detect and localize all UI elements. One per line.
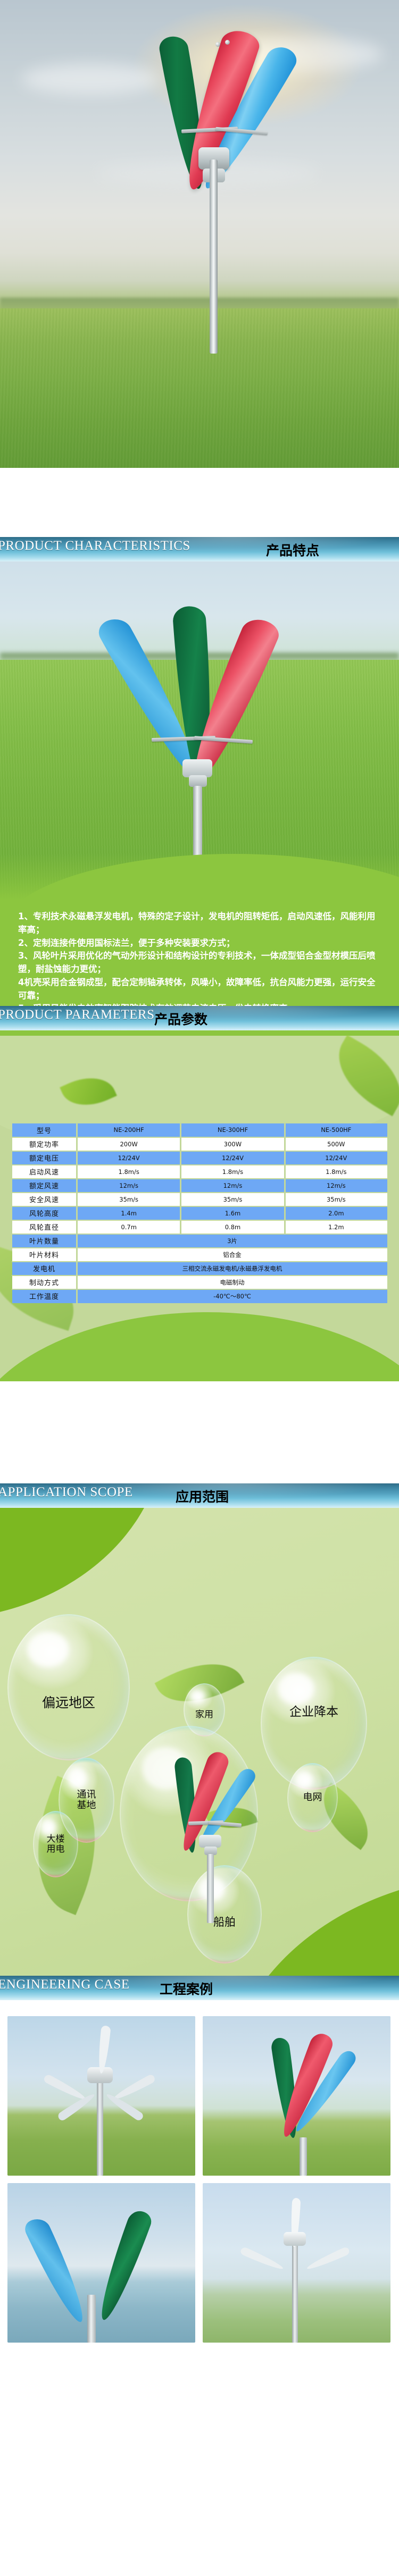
spec-row-value: 1.4m: [77, 1206, 181, 1220]
case1-blade: [43, 2074, 87, 2103]
spec-row-value: 300W: [181, 1137, 285, 1151]
spec-row-value: 12m/s: [285, 1179, 387, 1193]
spec-row-value: 12/24V: [181, 1151, 285, 1165]
application-turbine-illustration: [169, 1741, 249, 1917]
spec-row-label: 额定电压: [12, 1151, 77, 1165]
turbine-photo-illustration: [114, 604, 290, 870]
photo-hub: [182, 759, 212, 777]
case1-blade: [96, 2025, 111, 2074]
spec-row-label: 风轮直径: [12, 1220, 77, 1234]
spec-row-value: 0.7m: [77, 1220, 181, 1234]
case3-mast: [87, 2295, 96, 2343]
photo-hub-base: [189, 775, 207, 787]
specification-table-body: 型号NE-200HFNE-300HFNE-500HF额定功率200W300W50…: [12, 1123, 387, 1303]
case-photo-blue-blade-turbine[interactable]: [7, 2183, 195, 2343]
banner-english-title: APPLICATION SCOPE: [0, 1485, 133, 1500]
spec-row-value: NE-300HF: [181, 1123, 285, 1137]
spec-row-label: 安全风速: [12, 1193, 77, 1206]
case3-blade-blue: [21, 2216, 93, 2326]
spec-row-value: 12/24V: [285, 1151, 387, 1165]
banner-application-scope: APPLICATION SCOPE APPLICATION SCOPE 应用范围: [0, 1483, 399, 1508]
wind-turbine-illustration: [136, 24, 295, 354]
spec-row-label: 叶片材料: [12, 1248, 77, 1262]
banner-chinese-title: 产品参数: [154, 1009, 207, 1028]
spec-row-value: 1.8m/s: [77, 1165, 181, 1179]
bubble-label: 家用: [195, 1710, 213, 1720]
spec-row-label: 工作温度: [12, 1289, 77, 1303]
spec-row-label: 额定功率: [12, 1137, 77, 1151]
case1-mast: [97, 2080, 103, 2176]
spec-row-label: 风轮高度: [12, 1206, 77, 1220]
bubble-label: 企业降本: [289, 1706, 338, 1719]
spec-row-label: 额定风速: [12, 1179, 77, 1193]
banner-english-title: ENGINEERING CASE: [0, 1977, 130, 1992]
case4-blade: [239, 2246, 285, 2272]
spec-table-row: 制动方式电磁制动: [12, 1276, 387, 1289]
bubble-power-grid[interactable]: 电网: [287, 1763, 338, 1832]
spec-table-row: 工作温度-40℃～80℃: [12, 1289, 387, 1303]
turbine-mast: [210, 160, 218, 354]
spec-table-row: 风轮直径0.7m0.8m1.2m: [12, 1220, 387, 1234]
banner-english-title: PRODUCT PARAMETERS: [0, 1008, 155, 1022]
banner-product-characteristics: PRODUCT CHARACTERISTICS PRODUCT CHARACTE…: [0, 537, 399, 561]
banner-product-parameters: PRODUCT PARAMETERS PRODUCT PARAMETERS 产品…: [0, 1006, 399, 1030]
spec-row-label: 启动风速: [12, 1165, 77, 1179]
banner-chinese-title: 应用范围: [176, 1487, 229, 1506]
spec-table-row: 启动风速1.8m/s1.8m/s1.8m/s: [12, 1165, 387, 1179]
spec-row-value: 500W: [285, 1137, 387, 1151]
features-description-block: 1、专利技术永磁悬浮发电机，特殊的定子设计，发电机的阻转矩低，启动风速低，风能利…: [0, 905, 399, 1006]
spec-row-value: 3片: [77, 1234, 387, 1248]
product-detail-page: 启动风速低 专利永磁 发电机: [0, 0, 399, 2576]
spec-table-row: 叶片材料铝合金: [12, 1248, 387, 1262]
spec-row-value: -40℃～80℃: [77, 1289, 387, 1303]
case1-blade: [112, 2074, 156, 2103]
bubble-building-power[interactable]: 大楼 用电: [33, 1811, 78, 1877]
case4-mast: [292, 2242, 298, 2343]
turbine-bolt: [215, 42, 220, 47]
spec-row-value: 12/24V: [77, 1151, 181, 1165]
case4-blade: [305, 2246, 351, 2272]
spec-row-value: 35m/s: [181, 1193, 285, 1206]
bubble-label: 电网: [303, 1792, 322, 1803]
specification-table: 型号NE-200HFNE-300HFNE-500HF额定功率200W300W50…: [12, 1123, 387, 1303]
case4-nacelle: [284, 2232, 306, 2246]
corner-shape-top-left: [0, 1508, 165, 1620]
spec-table-row: 叶片数量3片: [12, 1234, 387, 1248]
banner-chinese-title: 产品特点: [266, 540, 319, 559]
bubble-label: 偏远地区: [42, 1696, 95, 1710]
banner-engineering-case: ENGINEERING CASE ENGINEERING CASE 工程案例: [0, 1976, 399, 2000]
bubble-remote-area[interactable]: 偏远地区: [7, 1614, 130, 1760]
case3-blade-green: [93, 2209, 155, 2322]
bubble-label: 通讯 基地: [77, 1790, 96, 1811]
spec-row-value: 2.0m: [285, 1206, 387, 1220]
spec-row-value: 0.8m: [181, 1220, 285, 1234]
features-product-photo: [0, 561, 399, 912]
spec-row-value: 1.8m/s: [181, 1165, 285, 1179]
spec-row-value: 电磁制动: [77, 1276, 387, 1289]
spec-table-row: 安全风速35m/s35m/s35m/s: [12, 1193, 387, 1206]
bubble-label: 船舶: [213, 1916, 236, 1928]
app-mast: [207, 1854, 214, 1923]
spec-table-row: 风轮高度1.4m1.6m2.0m: [12, 1206, 387, 1220]
spec-row-value: NE-500HF: [285, 1123, 387, 1137]
spec-row-value: 三相交流永磁发电机/永磁悬浮发电机: [77, 1262, 387, 1276]
spec-table-row: 额定风速12m/s12m/s12m/s: [12, 1179, 387, 1193]
case-photo-white-turbine-field[interactable]: [203, 2183, 390, 2343]
case-photo-colored-vertical-turbine[interactable]: [203, 2016, 390, 2176]
banner-english-title: PRODUCT CHARACTERISTICS: [0, 539, 190, 553]
spec-row-value: 200W: [77, 1137, 181, 1151]
spec-row-value: 1.8m/s: [285, 1165, 387, 1179]
features-description-text: 1、专利技术永磁悬浮发电机，特殊的定子设计，发电机的阻转矩低，启动风速低，风能利…: [18, 910, 381, 1016]
banner-chinese-title: 工程案例: [160, 1979, 213, 1998]
spec-row-value: 12m/s: [77, 1179, 181, 1193]
spec-row-label: 发电机: [12, 1262, 77, 1276]
case2-mast: [300, 2137, 307, 2176]
hero-banner: 启动风速低 专利永磁 发电机: [0, 0, 399, 468]
spec-table-row: 额定电压12/24V12/24V12/24V: [12, 1151, 387, 1165]
case-photo-horizontal-axis-turbine[interactable]: [7, 2016, 195, 2176]
spec-row-label: 型号: [12, 1123, 77, 1137]
parameters-section: 型号NE-200HFNE-300HFNE-500HF额定功率200W300W50…: [0, 1030, 399, 1381]
spec-row-value: 1.6m: [181, 1206, 285, 1220]
bubble-label: 大楼 用电: [47, 1834, 65, 1854]
spec-row-label: 叶片数量: [12, 1234, 77, 1248]
spec-table-row: 发电机三相交流永磁发电机/永磁悬浮发电机: [12, 1262, 387, 1276]
spec-row-value: 1.2m: [285, 1220, 387, 1234]
spec-table-row: 额定功率200W300W500W: [12, 1137, 387, 1151]
app-hub: [199, 1835, 221, 1848]
spec-row-value: 铝合金: [77, 1248, 387, 1262]
case-photo-grid: [7, 2016, 392, 2343]
spec-row-value: NE-200HF: [77, 1123, 181, 1137]
spec-table-row: 型号NE-200HFNE-300HFNE-500HF: [12, 1123, 387, 1137]
spec-row-label: 制动方式: [12, 1276, 77, 1289]
spec-row-value: 12m/s: [181, 1179, 285, 1193]
turbine-bolt: [225, 40, 230, 45]
spec-row-value: 35m/s: [77, 1193, 181, 1206]
engineering-case-section: [0, 2006, 399, 2576]
spec-row-value: 35m/s: [285, 1193, 387, 1206]
